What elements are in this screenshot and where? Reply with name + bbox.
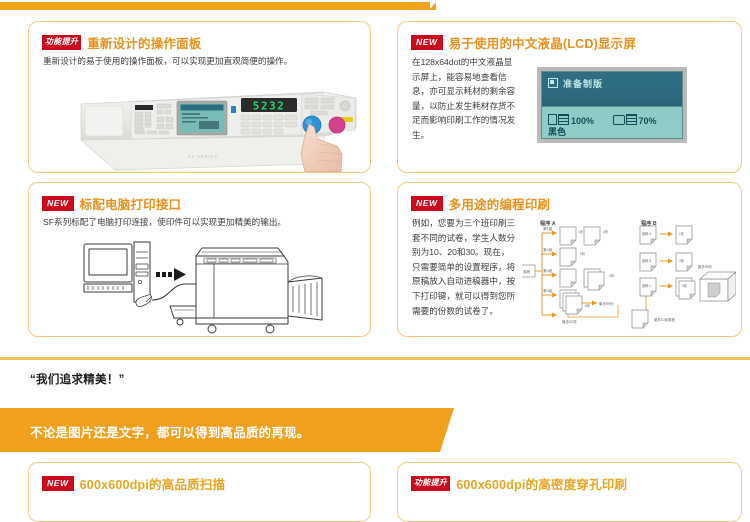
svg-text:SF SERIES: SF SERIES bbox=[188, 154, 218, 159]
programmed-printing-diagram: 程序 A 程序 B 原稿 第1组 第2组 第3组 bbox=[522, 217, 736, 332]
ink-level-icon bbox=[558, 114, 569, 125]
card-description: 例如，您要为三个班印刷三套不同的试卷，学生人数分别为10、20和30。现在，只需… bbox=[412, 216, 517, 318]
diagram-origin-label: 原稿 bbox=[523, 269, 530, 274]
card-title: 600x600dpi的高品质扫描 bbox=[80, 474, 226, 493]
lcd-ink-color-label: 黑色 bbox=[548, 125, 566, 138]
badge-new: NEW bbox=[42, 196, 74, 211]
lcd-status-text: 准备制版 bbox=[548, 77, 603, 90]
card-title: 易于使用的中文液晶(LCD)显示屏 bbox=[449, 33, 636, 52]
diagram-a-row-3: 第3组 bbox=[543, 268, 553, 273]
diagram-b-row-3: 原稿 C bbox=[642, 283, 652, 288]
card-title: 多用途的编程印刷 bbox=[449, 194, 551, 213]
card-header: NEW多用途的编程印刷 bbox=[411, 194, 550, 213]
card-description: 重新设计的易于使用的操作面板，可以实现更加直观简便的操作。 bbox=[43, 55, 361, 69]
badge-feature-upgrade: 功能提升 bbox=[411, 476, 450, 491]
lcd-ink-percent: 100% bbox=[571, 116, 594, 126]
diagram-a-row-2: 第2组 bbox=[543, 247, 553, 252]
svg-text:8份: 8份 bbox=[585, 303, 591, 308]
card-title: 标配电脑打印接口 bbox=[80, 194, 182, 213]
badge-new: NEW bbox=[411, 35, 443, 50]
svg-text:5份: 5份 bbox=[580, 251, 586, 256]
card-programmed-printing: NEW多用途的编程印刷 例如，您要为三个班印刷三套不同的试卷，学生人数分别为10… bbox=[397, 182, 742, 337]
card-header: NEW易于使用的中文液晶(LCD)显示屏 bbox=[411, 33, 636, 52]
card-high-quality-scan: NEW600x600dpi的高品质扫描 bbox=[28, 462, 371, 522]
diagram-note-a2: 最多20张 bbox=[562, 319, 577, 324]
section-divider bbox=[0, 357, 750, 360]
lcd-master-percent: 70% bbox=[639, 116, 657, 126]
card-title: 600x600dpi的高密度穿孔印刷 bbox=[456, 474, 627, 493]
diagram-note-b2: 最多10张原稿 bbox=[654, 317, 675, 322]
lcd-mode-icon bbox=[548, 78, 558, 88]
diagram-output-stack: 最多99份 bbox=[698, 264, 736, 301]
master-level-icon bbox=[626, 114, 637, 125]
control-panel-photo: 5232 SF SER bbox=[73, 84, 363, 172]
lcd-screen-graphic: 准备制版 100% 70% 黑色 bbox=[537, 67, 687, 143]
diagram-b-row-1: 原稿 A bbox=[642, 231, 652, 236]
panel-led-value: 5232 bbox=[253, 100, 286, 113]
diagram-b-row-2: 原稿 B bbox=[642, 258, 651, 263]
svg-text:2张: 2张 bbox=[679, 258, 685, 263]
diagram-note-a1: 最多99份 bbox=[599, 301, 614, 306]
diagram-group-a-label: 程序 A bbox=[540, 219, 556, 227]
badge-new: NEW bbox=[411, 196, 443, 211]
card-description: 在128x64dot的中文液晶显示屏上，能容易地查看信息，亦可显示耗材的剩余容量… bbox=[412, 55, 517, 143]
lcd-master-group: 70% bbox=[613, 114, 657, 126]
diagram-note-b1: 最多99份 bbox=[698, 264, 713, 269]
feature-brochure-page: 功能提升重新设计的操作面板 重新设计的易于使用的操作面板，可以实现更加直观简便的… bbox=[0, 0, 750, 487]
card-header: 功能提升重新设计的操作面板 bbox=[42, 33, 202, 52]
card-title: 重新设计的操作面板 bbox=[87, 33, 201, 52]
svg-text:3张: 3张 bbox=[682, 283, 688, 288]
svg-text:4份: 4份 bbox=[603, 229, 609, 234]
diagram-a-row-4: 第4组 bbox=[543, 288, 553, 293]
quality-banner-text: 不论是图片还是文字，都可以得到高品质的再现。 bbox=[30, 422, 309, 441]
top-orange-rule bbox=[0, 2, 430, 10]
svg-text:3份: 3份 bbox=[609, 273, 615, 278]
ink-bottle-icon bbox=[548, 114, 557, 125]
card-lcd-display: NEW易于使用的中文液晶(LCD)显示屏 在128x64dot的中文液晶显示屏上… bbox=[397, 21, 742, 173]
card-pc-print-interface: NEW标配电脑打印接口 SF系列标配了电脑打印连接，使印件可以实现更加精美的输出… bbox=[28, 182, 371, 337]
lcd-status-label: 准备制版 bbox=[563, 79, 603, 89]
diagram-sheet-group-a: 1张 4份 5份 3份 8份 bbox=[560, 227, 615, 314]
quality-banner: 不论是图片还是文字，都可以得到高品质的再现。 bbox=[0, 408, 440, 452]
card-header: NEW标配电脑打印接口 bbox=[42, 194, 181, 213]
svg-text:1张: 1张 bbox=[679, 231, 685, 236]
diagram-sheet-group-b: 原稿 A 1张 原稿 B 2张 原稿 C 3张 最多10张原稿 bbox=[632, 226, 695, 328]
card-header: 功能提升600x600dpi的高密度穿孔印刷 bbox=[411, 474, 627, 493]
card-high-density-perforation: 功能提升600x600dpi的高密度穿孔印刷 bbox=[397, 462, 742, 522]
section-quote: “我们追求精美！” bbox=[30, 371, 125, 387]
badge-feature-upgrade: 功能提升 bbox=[42, 35, 81, 50]
pc-to-duplicator-illustration bbox=[74, 238, 324, 336]
master-roll-icon bbox=[613, 115, 625, 125]
lcd-screen: 准备制版 100% 70% 黑色 bbox=[541, 71, 683, 139]
diagram-a-row-1: 第1组 bbox=[543, 226, 553, 231]
svg-text:1张: 1张 bbox=[578, 229, 584, 234]
card-header: NEW600x600dpi的高品质扫描 bbox=[42, 474, 225, 493]
card-control-panel: 功能提升重新设计的操作面板 重新设计的易于使用的操作面板，可以实现更加直观简便的… bbox=[28, 21, 371, 173]
lcd-consumables-row: 100% 70% bbox=[548, 114, 673, 126]
card-description: SF系列标配了电脑打印连接，使印件可以实现更加精美的输出。 bbox=[43, 216, 361, 230]
badge-new: NEW bbox=[42, 476, 74, 491]
